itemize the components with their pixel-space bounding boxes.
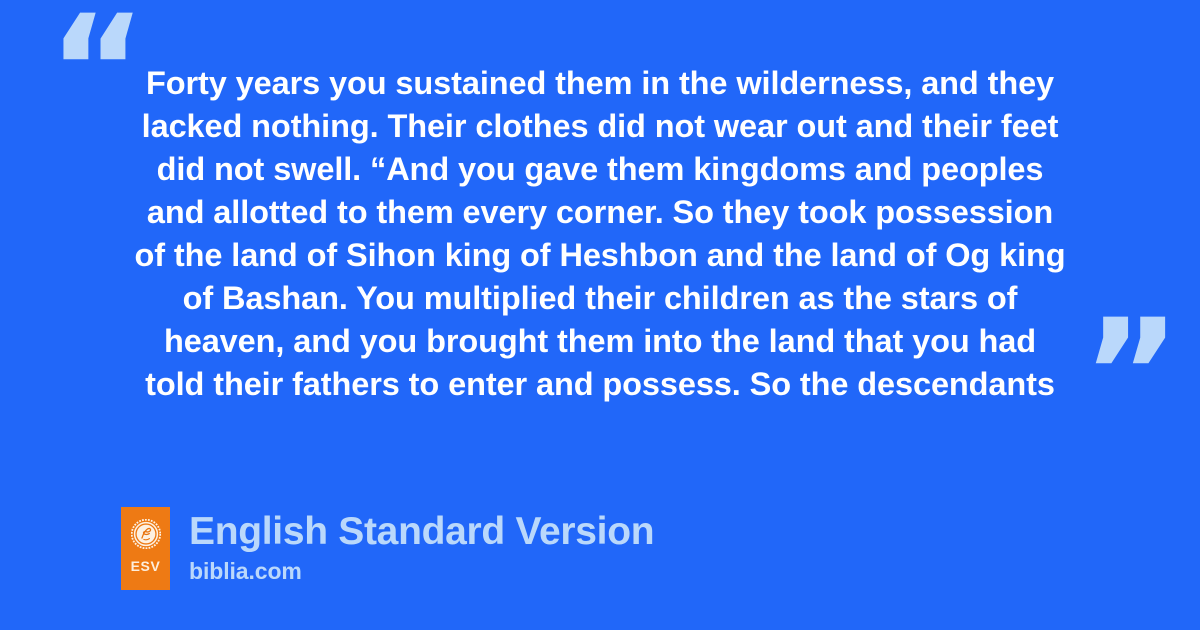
verse-line: lacked nothing. Their clothes did not we…: [100, 105, 1100, 148]
brand-text-block: English Standard Version biblia.com: [189, 507, 654, 584]
branding-footer: ESV English Standard Version biblia.com: [121, 507, 654, 590]
verse-line: Forty years you sustained them in the wi…: [100, 62, 1100, 105]
verse-line: of the land of Sihon king of Heshbon and…: [100, 234, 1100, 277]
esv-seal-icon: [131, 519, 161, 549]
verse-text: Forty years you sustained them in the wi…: [100, 62, 1100, 406]
esv-logo: ESV: [121, 507, 170, 590]
translation-name: English Standard Version: [189, 509, 654, 554]
verse-line: did not swell. “And you gave them kingdo…: [100, 148, 1100, 191]
verse-line: told their fathers to enter and possess.…: [100, 363, 1100, 406]
website-url: biblia.com: [189, 558, 654, 584]
verse-line: heaven, and you brought them into the la…: [100, 320, 1100, 363]
esv-logo-abbreviation: ESV: [131, 559, 161, 573]
verse-line: and allotted to them every corner. So th…: [100, 191, 1100, 234]
bible-verse-card: “ ” Forty years you sustained them in th…: [0, 0, 1200, 630]
verse-line: of Bashan. You multiplied their children…: [100, 277, 1100, 320]
